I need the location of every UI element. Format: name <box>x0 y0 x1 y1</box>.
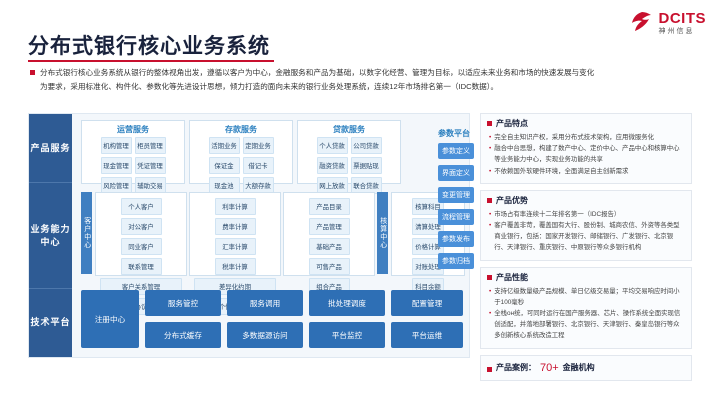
vtab-customer-center[interactable]: 客户中心 <box>81 192 92 274</box>
logo-mark-icon <box>629 10 655 36</box>
cell[interactable]: 同业客户 <box>121 238 162 255</box>
title-underline <box>28 60 274 62</box>
section-product-features: 产品特点 •完全自主知识产权，采用分布式技术架构，应用微服务化 •融合中台思想，… <box>480 113 692 184</box>
intro-block: 分布式银行核心业务系统从银行的整体视角出发，遵循以客户为中心，金融服务和产品为基… <box>30 66 690 95</box>
right-column: 产品特点 •完全自主知识产权，采用分布式技术架构，应用微服务化 •融合中台思想，… <box>480 113 692 381</box>
logo-en: DCITS <box>659 11 707 26</box>
architecture-diagram: 产品服务 业务能力中心 技术平台 运营服务 机构管理 柜员管理 现金管理 凭证管… <box>28 113 470 358</box>
cell[interactable]: 公司贷款 <box>351 137 382 154</box>
panel-customer-center: 个人客户 对公客户 同业客户 联系管理 客户关系管理 客户协议管理 <box>95 192 187 276</box>
list-item-text: 不依赖国外软硬件环境，全面满足自主创新需求 <box>494 166 628 177</box>
case-prefix: 产品案例： <box>496 362 536 373</box>
list-item: •全栈он统，可同时运行在国产服务器、芯片、操作系统全面实现信创适配，并落地部署… <box>489 308 683 342</box>
platform-item-param-def[interactable]: 参数定义 <box>438 143 474 159</box>
panel-deposit-service: 存款服务 活期业务 定期业务 保证金 借记卡 现金池 大额存款 账户限制 司法查… <box>189 120 293 184</box>
cell[interactable]: 产品目录 <box>309 198 350 215</box>
cell[interactable]: 借记卡 <box>243 157 274 174</box>
rail-item-product-service[interactable]: 产品服务 <box>29 114 72 182</box>
dot-icon: • <box>489 132 491 143</box>
section-header: 产品性能 <box>481 268 691 286</box>
page-title: 分布式银行核心业务系统 <box>28 30 270 60</box>
cell[interactable]: 个人客户 <box>121 198 162 215</box>
vtab-label: 客户中心 <box>82 217 90 249</box>
intro-text-2: 为要求，采用标准化、构件化、参数化等先进设计思想，倾力打造的面向未来的银行业务处… <box>30 80 690 94</box>
slide-root: DCITS 神州信息 分布式银行核心业务系统 分布式银行核心业务系统从银行的整体… <box>0 0 720 405</box>
dot-icon: • <box>489 308 491 319</box>
platform-item-param-publish[interactable]: 参数发布 <box>438 231 474 247</box>
section-body: •完全自主知识产权，采用分布式技术架构，应用微服务化 •融合中台思想，构建了数产… <box>481 132 691 183</box>
tech-register-center[interactable]: 注册中心 <box>81 290 139 348</box>
panel-cells: 个人贷款 公司贷款 融资贷款 票据贴现 网上放款 联合贷款 <box>298 137 400 198</box>
section-title: 产品特点 <box>496 118 528 129</box>
vtab-label: 核算中心 <box>378 217 386 249</box>
tech-platform-monitor[interactable]: 平台监控 <box>309 322 385 348</box>
panel-title: 存款服务 <box>190 121 292 137</box>
cell[interactable]: 汇率计算 <box>215 238 256 255</box>
rail-item-tech-platform[interactable]: 技术平台 <box>29 287 72 357</box>
list-item: •市场占有率连续十二年排名第一（IDC报告） <box>489 209 683 220</box>
cell[interactable]: 柜员管理 <box>135 137 166 154</box>
bullet-square-icon <box>487 367 492 372</box>
tech-distributed-cache[interactable]: 分布式缓存 <box>145 322 221 348</box>
panel-title: 贷款服务 <box>298 121 400 137</box>
section-header: 产品优势 <box>481 191 691 209</box>
bullet-square-icon <box>487 198 492 203</box>
dot-icon: • <box>489 143 491 154</box>
case-count: 70+ <box>540 362 559 374</box>
cell[interactable]: 票据贴现 <box>351 157 382 174</box>
list-item-text: 完全自主知识产权，采用分布式技术架构，应用微服务化 <box>494 132 654 143</box>
platform-item-change-mgmt[interactable]: 变更管理 <box>438 187 474 203</box>
platform-item-process-mgmt[interactable]: 流程管理 <box>438 209 474 225</box>
cell[interactable]: 融资贷款 <box>317 157 348 174</box>
panel-pricing-center: 利率计算 费率计算 汇率计算 税率计算 差异化约期 个性化约期 <box>189 192 281 276</box>
cell[interactable]: 利率计算 <box>215 198 256 215</box>
dot-icon: • <box>489 286 491 297</box>
panel-title: 运营服务 <box>82 121 184 137</box>
logo-cn: 神州信息 <box>659 28 707 35</box>
section-body: •市场占有率连续十二年排名第一（IDC报告） •客户覆盖非苛，覆盖国有大行、股份… <box>481 209 691 260</box>
cell[interactable]: 活期业务 <box>209 137 240 154</box>
cell[interactable]: 产品管理 <box>309 218 350 235</box>
section-header: 产品特点 <box>481 114 691 132</box>
cell[interactable]: 可售产品 <box>309 258 350 275</box>
cell[interactable]: 联系管理 <box>121 258 162 275</box>
list-item: •不依赖国外软硬件环境，全面满足自主创新需求 <box>489 166 683 177</box>
platform-item-ui-def[interactable]: 界面定义 <box>438 165 474 181</box>
platform-item-param-archive[interactable]: 参数归档 <box>438 253 474 269</box>
list-item: •客户覆盖非苛，覆盖国有大行、股份制、城商农信、外资等各类型商业银行，包括：国家… <box>489 220 683 254</box>
section-title: 产品优势 <box>496 195 528 206</box>
list-item: •完全自主知识产权，采用分布式技术架构，应用微服务化 <box>489 132 683 143</box>
intro-line-1: 分布式银行核心业务系统从银行的整体视角出发，遵循以客户为中心，金融服务和产品为基… <box>30 66 690 80</box>
cell[interactable]: 税率计算 <box>215 258 256 275</box>
cell[interactable]: 基础产品 <box>309 238 350 255</box>
bullet-square-icon <box>487 121 492 126</box>
tech-service-invoke[interactable]: 服务调用 <box>227 290 303 316</box>
brand-logo: DCITS 神州信息 <box>629 10 707 36</box>
list-item-text: 支持亿级数量级产品规模、单日亿级交易量；平均交易响应时间小于100毫秒 <box>494 286 683 308</box>
cell[interactable]: 保证金 <box>209 157 240 174</box>
list-item: •融合中台思想，构建了数产中心、定价中心、产品中心和核算中心等业务能力中心，实现… <box>489 143 683 165</box>
dot-icon: • <box>489 209 491 220</box>
list-item: •支持亿级数量级产品规模、单日亿级交易量；平均交易响应时间小于100毫秒 <box>489 286 683 308</box>
section-product-performance: 产品性能 •支持亿级数量级产品规模、单日亿级交易量；平均交易响应时间小于100毫… <box>480 267 692 349</box>
intro-text-1: 分布式银行核心业务系统从银行的整体视角出发，遵循以客户为中心，金融服务和产品为基… <box>40 66 594 80</box>
rail-item-capability-center[interactable]: 业务能力中心 <box>29 182 72 289</box>
tech-batch-schedule[interactable]: 批处理调度 <box>309 290 385 316</box>
bullet-square-icon <box>30 70 35 75</box>
cell[interactable]: 机构管理 <box>101 137 132 154</box>
panel-operation-service: 运营服务 机构管理 柜员管理 现金管理 凭证管理 风险管理 辅助交易 <box>81 120 185 184</box>
panel-cells: 机构管理 柜员管理 现金管理 凭证管理 风险管理 辅助交易 <box>82 137 184 198</box>
section-product-advantages: 产品优势 •市场占有率连续十二年排名第一（IDC报告） •客户覆盖非苛，覆盖国有… <box>480 190 692 261</box>
cell[interactable]: 个人贷款 <box>317 137 348 154</box>
diagram-left-rail: 产品服务 业务能力中心 技术平台 <box>29 114 72 357</box>
list-item-text: 市场占有率连续十二年排名第一（IDC报告） <box>494 209 620 220</box>
section-case-count: 产品案例： 70+ 金融机构 <box>480 355 692 381</box>
platform-label: 参数平台 <box>438 128 470 139</box>
cell[interactable]: 对公客户 <box>121 218 162 235</box>
cell[interactable]: 现金管理 <box>101 157 132 174</box>
cell[interactable]: 定期业务 <box>243 137 274 154</box>
vtab-accounting-center[interactable]: 核算中心 <box>377 192 388 274</box>
tech-config-manage[interactable]: 配置管理 <box>391 290 463 316</box>
cell[interactable]: 凭证管理 <box>135 157 166 174</box>
panel-product-center: 产品目录 产品管理 基础产品 可售产品 组合产品 产品factory <box>283 192 375 276</box>
tech-multi-datasource[interactable]: 多数据源访问 <box>227 322 303 348</box>
case-suffix: 金融机构 <box>563 362 595 373</box>
panel-loan-service: 贷款服务 个人贷款 公司贷款 融资贷款 票据贴现 网上放款 联合贷款 <box>297 120 401 184</box>
cell[interactable]: 费率计算 <box>215 218 256 235</box>
section-title: 产品性能 <box>496 272 528 283</box>
list-item-text: 融合中台思想，构建了数产中心、定价中心、产品中心和核算中心等业务能力中心，实现业… <box>494 143 683 165</box>
tech-service-control[interactable]: 服务管控 <box>145 290 221 316</box>
list-item-text: 全栈он统，可同时运行在国产服务器、芯片、操作系统全面实现信创适配，并落地部署银… <box>494 308 683 342</box>
dot-icon: • <box>489 166 491 177</box>
dot-icon: • <box>489 220 491 231</box>
section-body: •支持亿级数量级产品规模、单日亿级交易量；平均交易响应时间小于100毫秒 •全栈… <box>481 286 691 348</box>
tech-platform-ops[interactable]: 平台运维 <box>391 322 463 348</box>
logo-text: DCITS 神州信息 <box>659 11 707 35</box>
list-item-text: 客户覆盖非苛，覆盖国有大行、股份制、城商农信、外资等各类型商业银行，包括：国家开… <box>494 220 683 254</box>
bullet-square-icon <box>487 275 492 280</box>
